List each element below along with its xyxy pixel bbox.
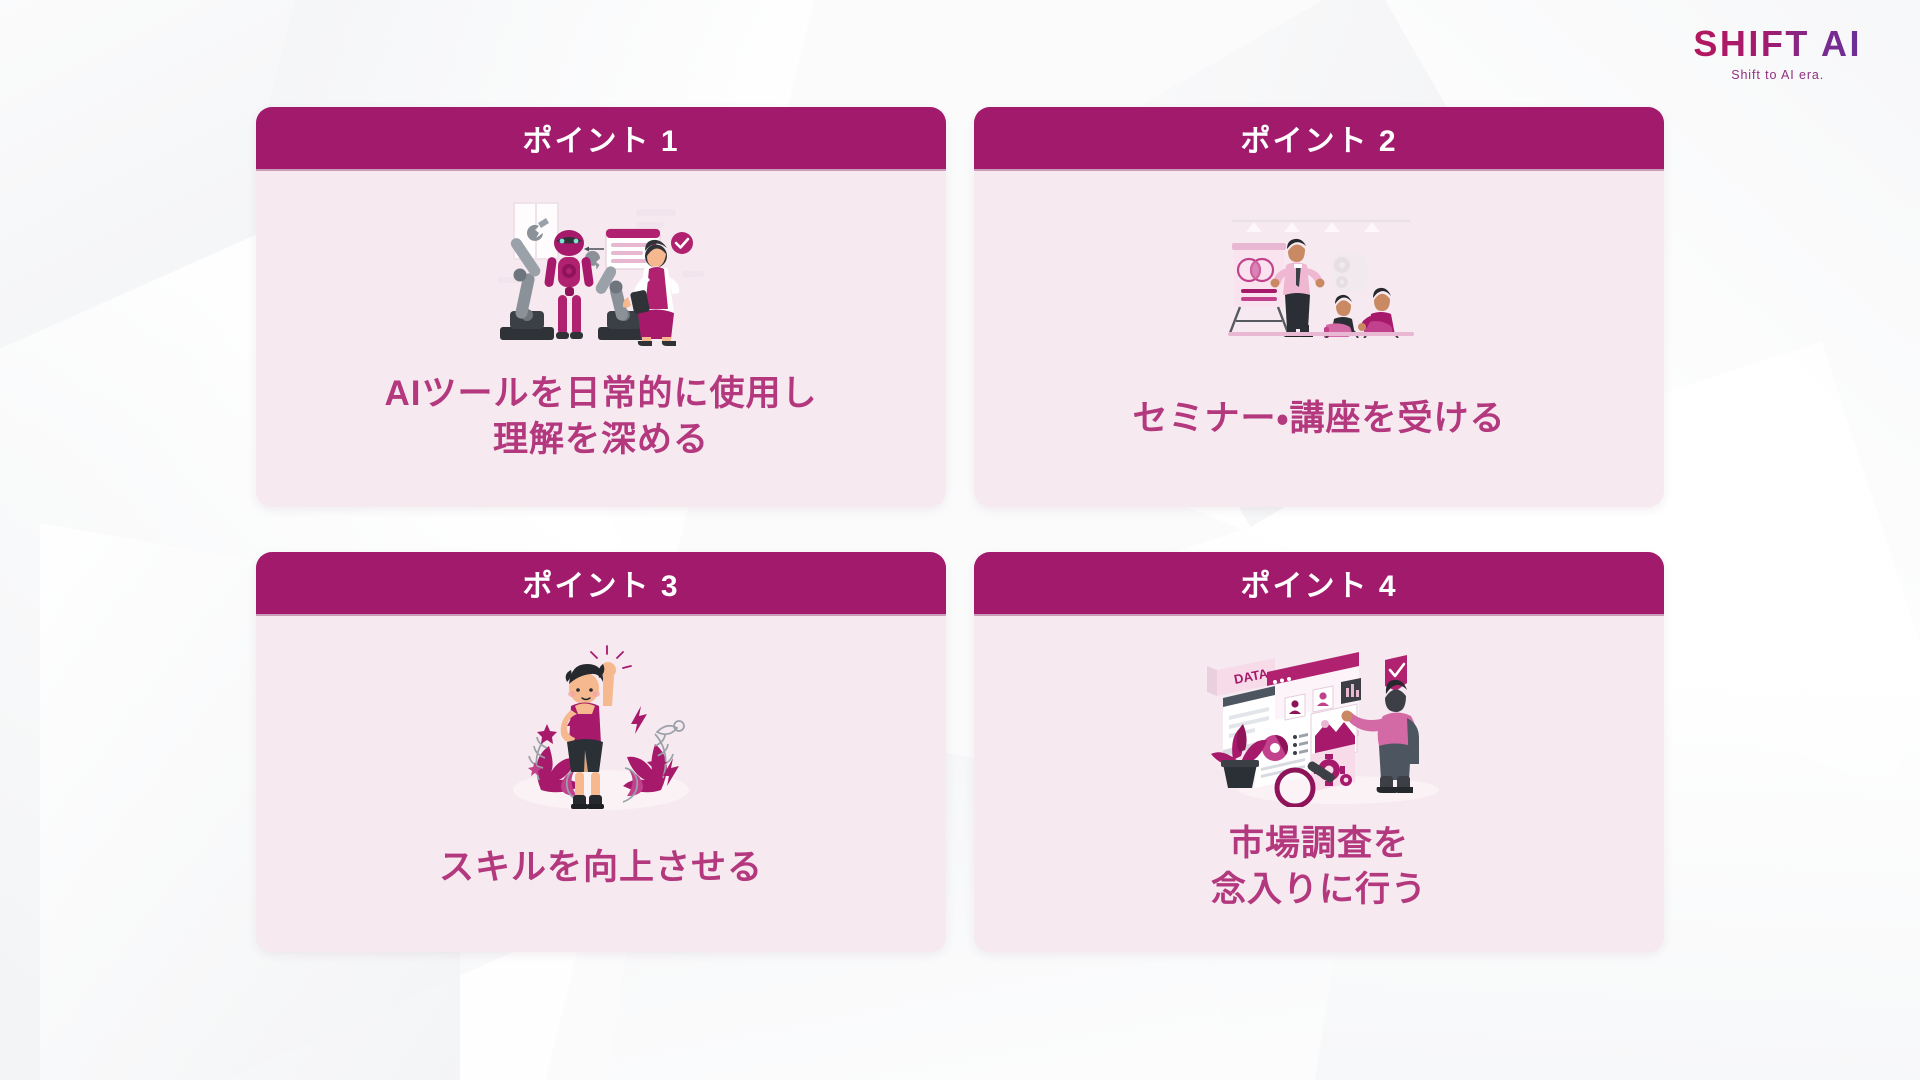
point-card-3-header: ポイント 3 <box>256 552 946 614</box>
seminar-presenter-icon <box>1214 203 1424 338</box>
robot-arms-and-engineer-icon <box>486 199 716 349</box>
point-card-4-caption: 市場調査を 念入りに行う <box>1211 821 1427 913</box>
point-card-3-caption: スキルを向上させる <box>439 845 763 891</box>
point-card-2-body: セミナー・講座を受ける <box>974 169 1664 507</box>
point-card-4[interactable]: ポイント 4 DATA <box>974 552 1664 952</box>
logo-tagline: Shift to AI era. <box>1693 69 1862 82</box>
point-card-4-header: ポイント 4 <box>974 552 1664 614</box>
logo-wordmark: SHIFT AI <box>1693 26 1862 62</box>
point-card-3-body: スキルを向上させる <box>256 614 946 952</box>
point-card-2-header: ポイント 2 <box>974 107 1664 169</box>
point-card-2[interactable]: ポイント 2 <box>974 107 1664 507</box>
point-card-2-caption: セミナー・講座を受ける <box>1133 396 1506 442</box>
point-card-1-header: ポイント 1 <box>256 107 946 169</box>
point-card-3[interactable]: ポイント 3 <box>256 552 946 952</box>
slide-canvas: SHIFT AI Shift to AI era. ポイント 1 <box>0 0 1920 1080</box>
points-grid: ポイント 1 <box>256 107 1664 952</box>
point-card-4-body: DATA <box>974 614 1664 952</box>
woman-raising-fist-icon <box>481 640 721 815</box>
point-card-1-body: AIツールを日常的に使用し 理解を深める <box>256 169 946 507</box>
data-dashboard-research-icon: DATA <box>1189 632 1449 807</box>
point-card-1[interactable]: ポイント 1 <box>256 107 946 507</box>
point-card-1-caption: AIツールを日常的に使用し 理解を深める <box>384 371 817 463</box>
shift-ai-logo: SHIFT AI Shift to AI era. <box>1693 26 1862 82</box>
